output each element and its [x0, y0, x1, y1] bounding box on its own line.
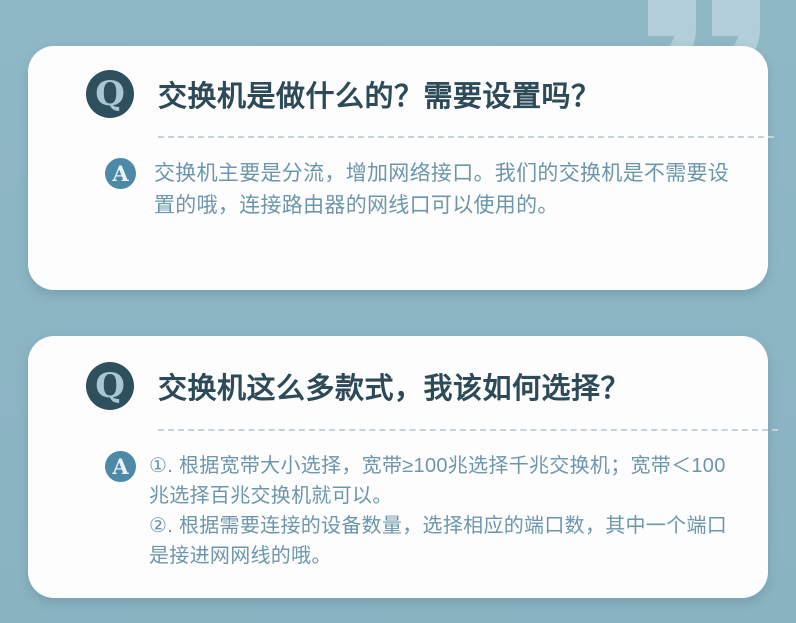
answer-line: ②. 根据需要连接的设备数量，选择相应的端口数，其中一个端口是接进网网线的哦。: [149, 511, 734, 571]
faq-card: Q 交换机是做什么的？需要设置吗？ A 交换机主要是分流，增加网络接口。我们的交…: [28, 46, 768, 290]
answer-line: 交换机主要是分流，增加网络接口。我们的交换机是不需要设置的哦，连接路由器的网线口…: [154, 158, 734, 222]
answer-text: ①. 根据宽带大小选择，宽带≥100兆选择千兆交换机；宽带＜100兆选择百兆交换…: [149, 451, 734, 571]
answer-badge: A: [105, 158, 136, 189]
answer-text: 交换机主要是分流，增加网络接口。我们的交换机是不需要设置的哦，连接路由器的网线口…: [154, 158, 734, 222]
answer-row: A 交换机主要是分流，增加网络接口。我们的交换机是不需要设置的哦，连接路由器的网…: [58, 138, 734, 222]
question-row: Q 交换机这么多款式，我该如何选择？: [58, 336, 734, 410]
answer-badge: A: [105, 451, 136, 482]
answer-line: ①. 根据宽带大小选择，宽带≥100兆选择千兆交换机；宽带＜100兆选择百兆交换…: [149, 451, 734, 511]
question-badge: Q: [86, 362, 134, 410]
question-text: 交换机这么多款式，我该如何选择？: [158, 365, 630, 407]
question-text: 交换机是做什么的？需要设置吗？: [158, 73, 601, 115]
answer-row: A ①. 根据宽带大小选择，宽带≥100兆选择千兆交换机；宽带＜100兆选择百兆…: [58, 431, 734, 571]
question-badge: Q: [86, 70, 134, 118]
faq-card: Q 交换机这么多款式，我该如何选择？ A ①. 根据宽带大小选择，宽带≥100兆…: [28, 336, 768, 598]
question-row: Q 交换机是做什么的？需要设置吗？: [58, 46, 734, 118]
